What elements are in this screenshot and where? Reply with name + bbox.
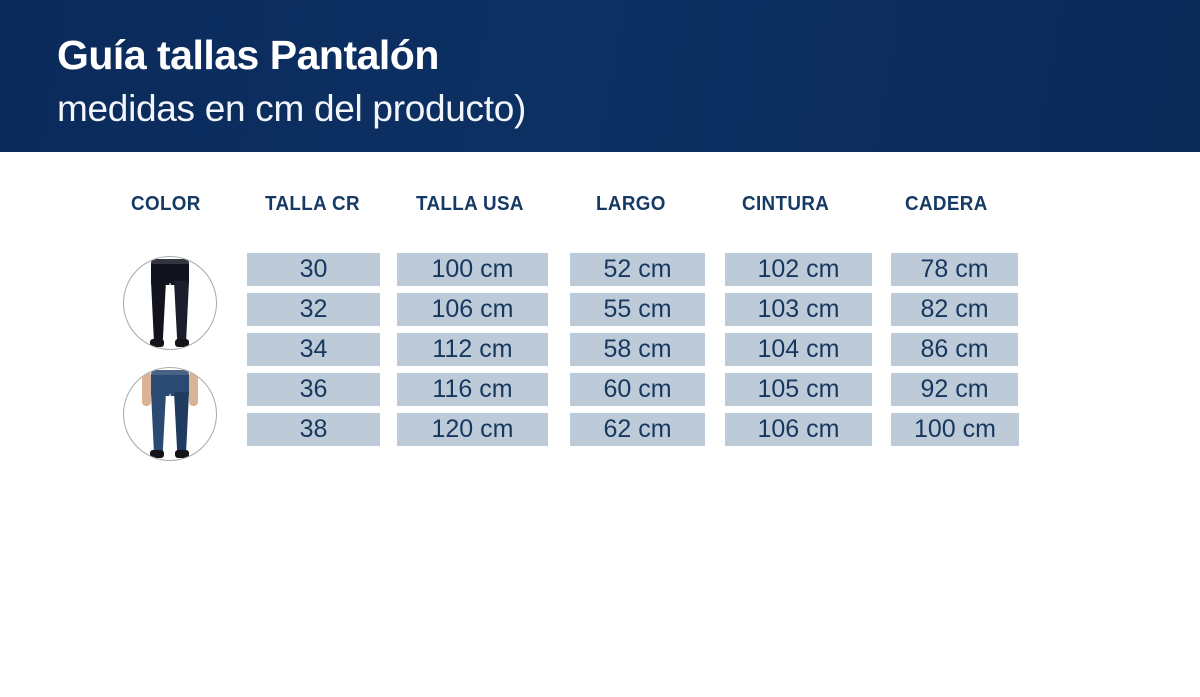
column-header-color: COLOR <box>131 193 201 216</box>
size-guide-page: Guía tallas Pantalón medidas en cm del p… <box>0 0 1200 697</box>
jean-inseam-gap <box>168 394 173 424</box>
jean-inseam-gap <box>168 283 173 313</box>
shoe-left <box>150 450 164 458</box>
header-banner: Guía tallas Pantalón medidas en cm del p… <box>0 0 1200 152</box>
column-header-cintura: CINTURA <box>742 193 829 216</box>
cell-talla-usa: 116 cm <box>397 373 548 406</box>
model-arm-left <box>142 372 151 406</box>
cell-talla-usa: 112 cm <box>397 333 548 366</box>
cell-cadera: 82 cm <box>891 293 1018 326</box>
cell-talla-cr: 32 <box>247 293 380 326</box>
jean-leg-left <box>151 392 166 454</box>
color-swatch-blue-denim[interactable] <box>123 367 217 461</box>
column-header-cadera: CADERA <box>905 193 988 216</box>
cell-talla-usa: 120 cm <box>397 413 548 446</box>
cell-largo: 58 cm <box>570 333 705 366</box>
jean-leg-right <box>174 281 189 343</box>
column-header-largo: LARGO <box>596 193 666 216</box>
column-header-talla-usa: TALLA USA <box>416 193 524 216</box>
jean-illustration-dark <box>124 257 216 349</box>
shoe-right <box>175 450 189 458</box>
cell-cadera: 100 cm <box>891 413 1019 446</box>
cell-cintura: 105 cm <box>725 373 872 406</box>
cell-largo: 55 cm <box>570 293 705 326</box>
cell-cintura: 106 cm <box>725 413 872 446</box>
cell-talla-cr: 38 <box>247 413 380 446</box>
model-arm-right <box>189 372 198 406</box>
jean-waistband <box>151 370 189 375</box>
cell-largo: 62 cm <box>570 413 705 446</box>
page-title: Guía tallas Pantalón <box>57 32 439 79</box>
shoe-left <box>150 339 164 347</box>
column-header-talla-cr: TALLA CR <box>265 193 360 216</box>
cell-cadera: 86 cm <box>891 333 1018 366</box>
jean-illustration-blue <box>124 368 216 460</box>
cell-cadera: 92 cm <box>891 373 1018 406</box>
shoe-right <box>175 339 189 347</box>
table-header-row: COLOR TALLA CR TALLA USA LARGO CINTURA C… <box>0 193 1200 223</box>
cell-talla-cr: 36 <box>247 373 380 406</box>
cell-cintura: 102 cm <box>725 253 872 286</box>
cell-cadera: 78 cm <box>891 253 1018 286</box>
cell-talla-usa: 100 cm <box>397 253 548 286</box>
cell-largo: 60 cm <box>570 373 705 406</box>
jean-waistband <box>151 259 189 264</box>
cell-cintura: 103 cm <box>725 293 872 326</box>
cell-talla-cr: 30 <box>247 253 380 286</box>
jean-leg-left <box>151 281 166 343</box>
cell-cintura: 104 cm <box>725 333 872 366</box>
color-swatch-dark-denim[interactable] <box>123 256 217 350</box>
size-table: COLOR TALLA CR TALLA USA LARGO CINTURA C… <box>0 152 1200 697</box>
cell-talla-usa: 106 cm <box>397 293 548 326</box>
jean-leg-right <box>174 392 189 454</box>
page-subtitle: medidas en cm del producto) <box>57 88 526 130</box>
cell-talla-cr: 34 <box>247 333 380 366</box>
cell-largo: 52 cm <box>570 253 705 286</box>
